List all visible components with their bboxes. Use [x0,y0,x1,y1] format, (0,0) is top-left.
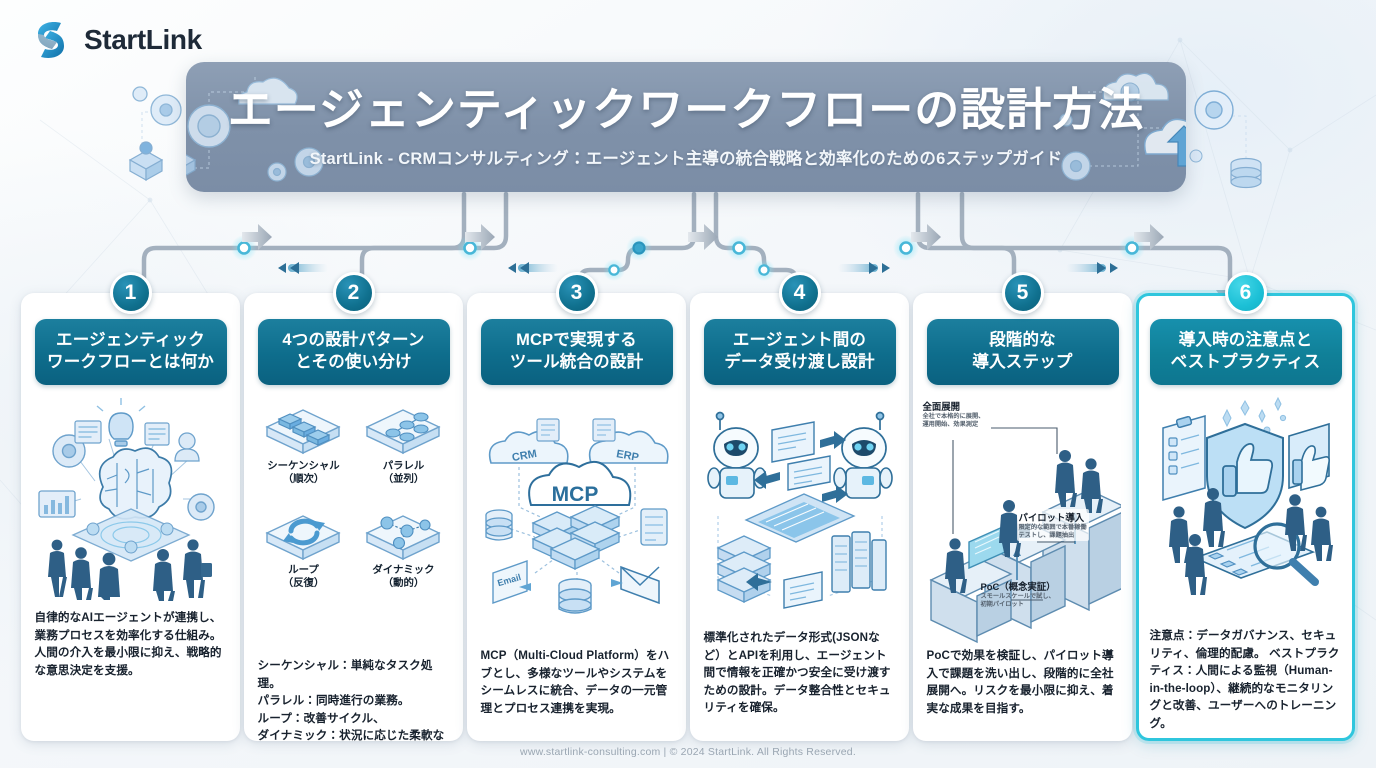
step-badge-6: 6 [1225,272,1267,314]
step-arrow-3-to-4 [688,224,718,250]
pattern-sub-3: （反復） [283,578,325,589]
pattern-sequential: シーケンシャル （順次） [256,393,352,487]
rollout-annotation-poc: PoC（概念実証） スモールスケールで試し、 初期パイロット [981,579,1056,609]
pattern-sub-2: （並列） [383,474,425,485]
page-subtitle: StartLink - CRMコンサルティング：エージェント主導の統合戦略と効率… [310,145,1063,169]
step-title-5: 段階的な 導入ステップ [927,319,1119,385]
brain-ai-network-illustration-icon [33,395,229,601]
dynamic-pattern-icon [357,497,451,563]
page-title: エージェンティックワークフローの設計方法 [228,85,1144,135]
loop-pattern-icon [257,497,351,563]
step-body-3: MCP（Multi-Cloud Platform）をハブとし、多様なツールやシス… [481,647,673,717]
step-illustration-4 [702,393,898,623]
pattern-name-3: ループ [288,565,319,576]
brand-name: StartLink [84,24,202,56]
pattern-sub-1: （順次） [283,474,325,485]
header-outside-right-decoration [1184,70,1274,205]
step-badge-3: 3 [556,272,598,314]
pattern-name-2: パラレル [383,461,425,472]
step-badge-4: 4 [779,272,821,314]
step-title-6: 導入時の注意点と ベストプラクティス [1150,319,1342,385]
step-illustration-2: シーケンシャル （順次） [256,393,452,655]
shield-checklist-bestpractice-illustration-icon [1149,394,1343,620]
step-body-2: シーケンシャル：単純なタスク処理。 パラレル：同時進行の業務。 ループ：改善サイ… [258,657,450,741]
step-illustration-5: 全面展開 全社で本格的に展開、 運用開始、効果測定 パイロット導入 限定的な範囲… [925,393,1121,645]
step-badge-5: 5 [1002,272,1044,314]
flow-marker-left-1 [278,262,328,274]
person-top-1 [1055,450,1077,507]
step-badge-1: 1 [110,272,152,314]
flow-marker-right-2 [1066,262,1118,274]
rollout-annotation-pilot: パイロット導入 限定的な範囲で本番稼働 テストし、課題抽出 [1017,509,1089,541]
step-arrow-4-to-5 [911,224,941,250]
startlink-s-logo-icon [30,18,72,62]
step-illustration-1 [33,393,229,603]
design-pattern-grid: シーケンシャル （順次） [256,393,452,590]
step-illustration-3: CRM ERP MCP [479,393,675,641]
parallel-pattern-icon [357,393,451,459]
step-body-5: PoCで効果を検証し、パイロット導入で課題を洗い出し、段階的に全社展開へ。リスク… [927,647,1119,717]
mcp-cloud-hub-illustration-icon: CRM ERP MCP [479,397,675,637]
pattern-name-1: シーケンシャル [267,461,339,472]
flow-marker-left-2 [508,262,558,274]
step-body-1: 自律的なAIエージェントが連携し、業務プロセスを効率化する仕組み。人間の介入を最… [35,609,227,679]
flow-marker-right-1 [838,262,890,274]
rollout-annotation-full: 全面展開 全社で本格的に展開、 運用開始、効果測定 [923,399,985,429]
step-arrow-2-to-3 [465,224,495,250]
step-body-4: 標準化されたデータ形式(JSONなど）とAPIを利用し、エージェント間で情報を正… [704,629,896,717]
step-arrow-1-to-2 [242,224,272,250]
step-title-1: エージェンティック ワークフローとは何か [35,319,227,385]
step-badge-2: 2 [333,272,375,314]
pattern-loop: ループ （反復） [256,497,352,591]
svg-text:MCP: MCP [551,483,598,506]
step-illustration-6 [1148,393,1344,621]
header-banner: エージェンティックワークフローの設計方法 StartLink - CRMコンサル… [186,62,1186,192]
pattern-dynamic: ダイナミック （動的） [356,497,452,591]
step-body-6: 注意点：データガバナンス、セキュリティ、倫理的配慮。 ベストプラクティス：人間に… [1150,627,1342,733]
pattern-sub-4: （動的） [383,578,425,589]
sequential-pattern-icon [257,393,351,459]
pattern-parallel: パラレル （並列） [356,393,452,487]
step-title-4: エージェント間の データ受け渡し設計 [704,319,896,385]
step-title-2: 4つの設計パターン とその使い分け [258,319,450,385]
brand-logo[interactable]: StartLink [30,18,202,62]
footer-text: www.startlink-consulting.com | © 2024 St… [0,746,1376,758]
step-arrow-5-to-6 [1134,224,1164,250]
pattern-name-4: ダイナミック [372,565,434,576]
step-title-3: MCPで実現する ツール統合の設計 [481,319,673,385]
robot-data-exchange-illustration-icon [702,396,898,621]
